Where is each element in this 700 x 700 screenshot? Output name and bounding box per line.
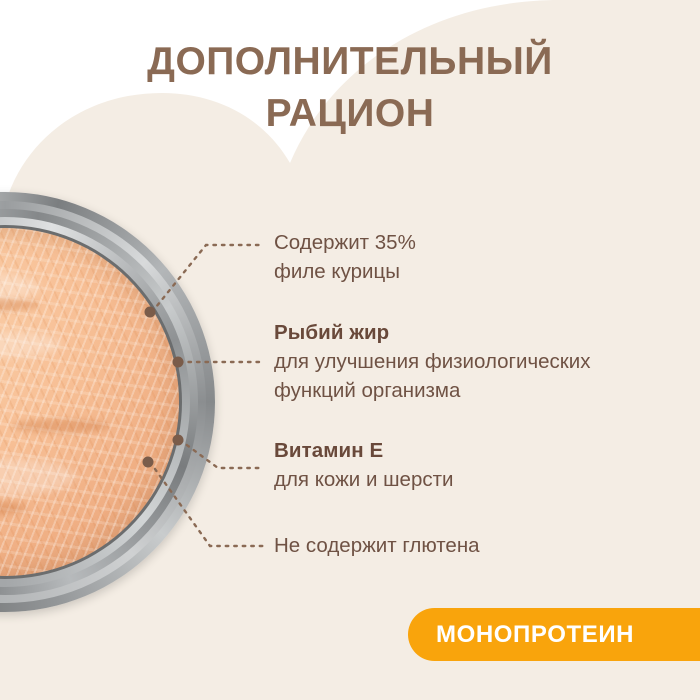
feature-3-body-line-1: для кожи и шерсти — [274, 465, 453, 494]
feature-2-body-line-1: для улучшения физиологических — [274, 347, 590, 376]
feature-item-2: Рыбий жир для улучшения физиологических … — [274, 318, 590, 405]
pate-food-surface — [0, 228, 179, 576]
badge-label: МОНОПРОТЕИН — [436, 621, 634, 649]
feature-2-body-line-2: функций организма — [274, 376, 590, 405]
feature-1-body-line-1: Содержит 35% — [274, 228, 416, 257]
feature-item-4: Не содержит глютена — [274, 531, 480, 560]
feature-1-body-line-2: филе курицы — [274, 257, 416, 286]
title-line-1: ДОПОЛНИТЕЛЬНЫЙ — [0, 36, 700, 88]
product-can-image — [0, 192, 215, 612]
promo-slide: ДОПОЛНИТЕЛЬНЫЙ РАЦИОН Содержит 35% филе … — [0, 0, 700, 700]
feature-4-body-line-1: Не содержит глютена — [274, 531, 480, 560]
monoprotein-badge: МОНОПРОТЕИН — [408, 608, 700, 661]
feature-2-heading: Рыбий жир — [274, 318, 590, 347]
feature-3-heading: Витамин Е — [274, 436, 453, 465]
title-line-2: РАЦИОН — [0, 88, 700, 140]
feature-item-3: Витамин Е для кожи и шерсти — [274, 436, 453, 494]
page-title: ДОПОЛНИТЕЛЬНЫЙ РАЦИОН — [0, 36, 700, 140]
feature-item-1: Содержит 35% филе курицы — [274, 228, 416, 286]
